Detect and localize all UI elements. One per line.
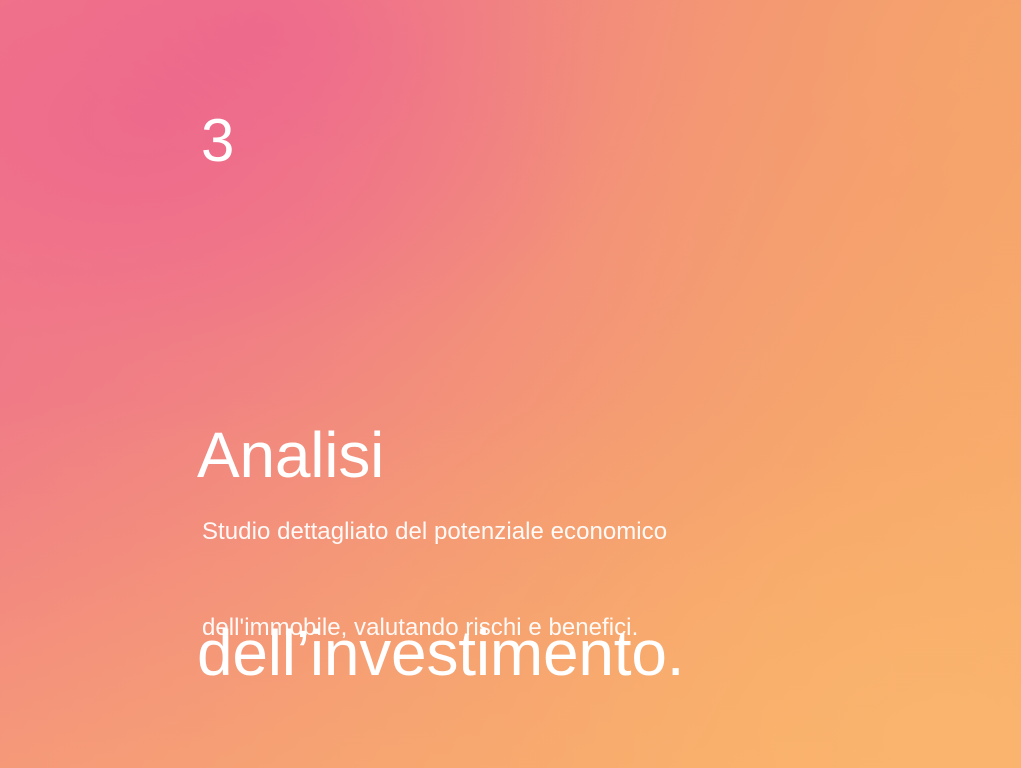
- slide-subtitle-line-2: dell'immobile, valutando rischi e benefi…: [202, 612, 667, 644]
- slide-subtitle: Studio dettagliato del potenziale econom…: [202, 452, 667, 708]
- slide-content: 3 Analisi dell’investimento. Studio dett…: [201, 0, 981, 768]
- section-number: 3: [201, 111, 235, 171]
- slide-canvas: 3 Analisi dell’investimento. Studio dett…: [0, 0, 1021, 768]
- slide-subtitle-line-1: Studio dettagliato del potenziale econom…: [202, 516, 667, 548]
